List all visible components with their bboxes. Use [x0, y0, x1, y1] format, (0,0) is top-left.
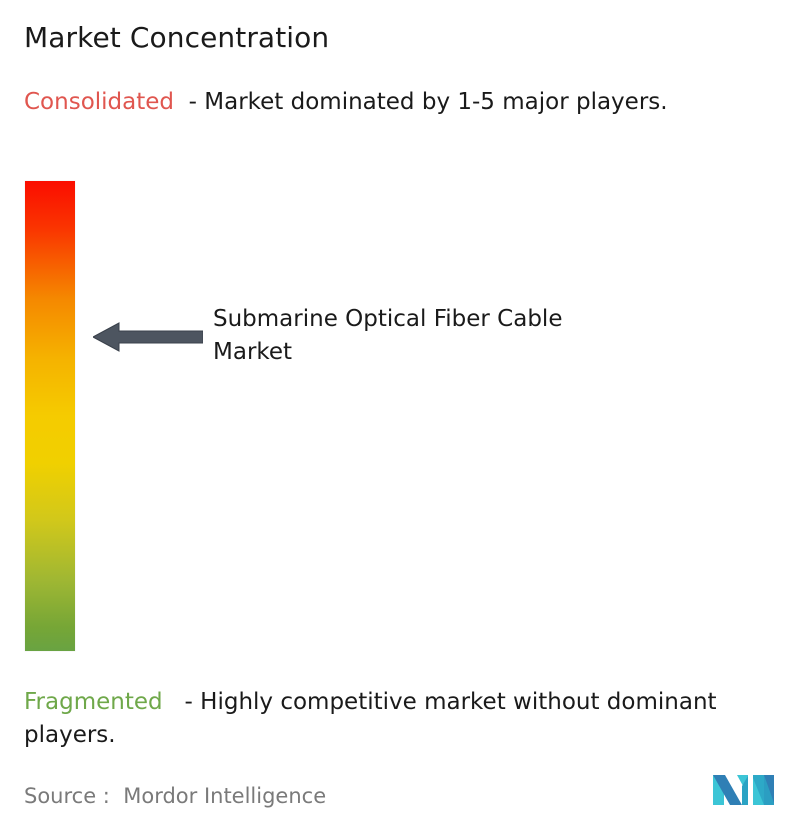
legend-fragmented-separator: - [163, 689, 201, 715]
legend-fragmented-term: Fragmented [24, 689, 163, 715]
market-pointer-label: Submarine Optical Fiber Cable Market [213, 303, 633, 369]
legend-consolidated-term: Consolidated [24, 89, 174, 115]
page-title: Market Concentration [24, 20, 329, 56]
market-pointer-arrow [93, 320, 203, 354]
mordor-intelligence-logo-icon [712, 770, 776, 810]
market-concentration-chart: Market Concentration Consolidated - Mark… [0, 0, 796, 834]
legend-consolidated-description: Market dominated by 1-5 major players. [204, 89, 667, 115]
legend-consolidated-separator: - [174, 89, 204, 115]
concentration-gradient-bar [25, 181, 75, 651]
source-note: Source : Mordor Intelligence [24, 782, 326, 810]
legend-fragmented: Fragmented - Highly competitive market w… [24, 686, 784, 752]
legend-consolidated: Consolidated - Market dominated by 1-5 m… [24, 86, 764, 119]
